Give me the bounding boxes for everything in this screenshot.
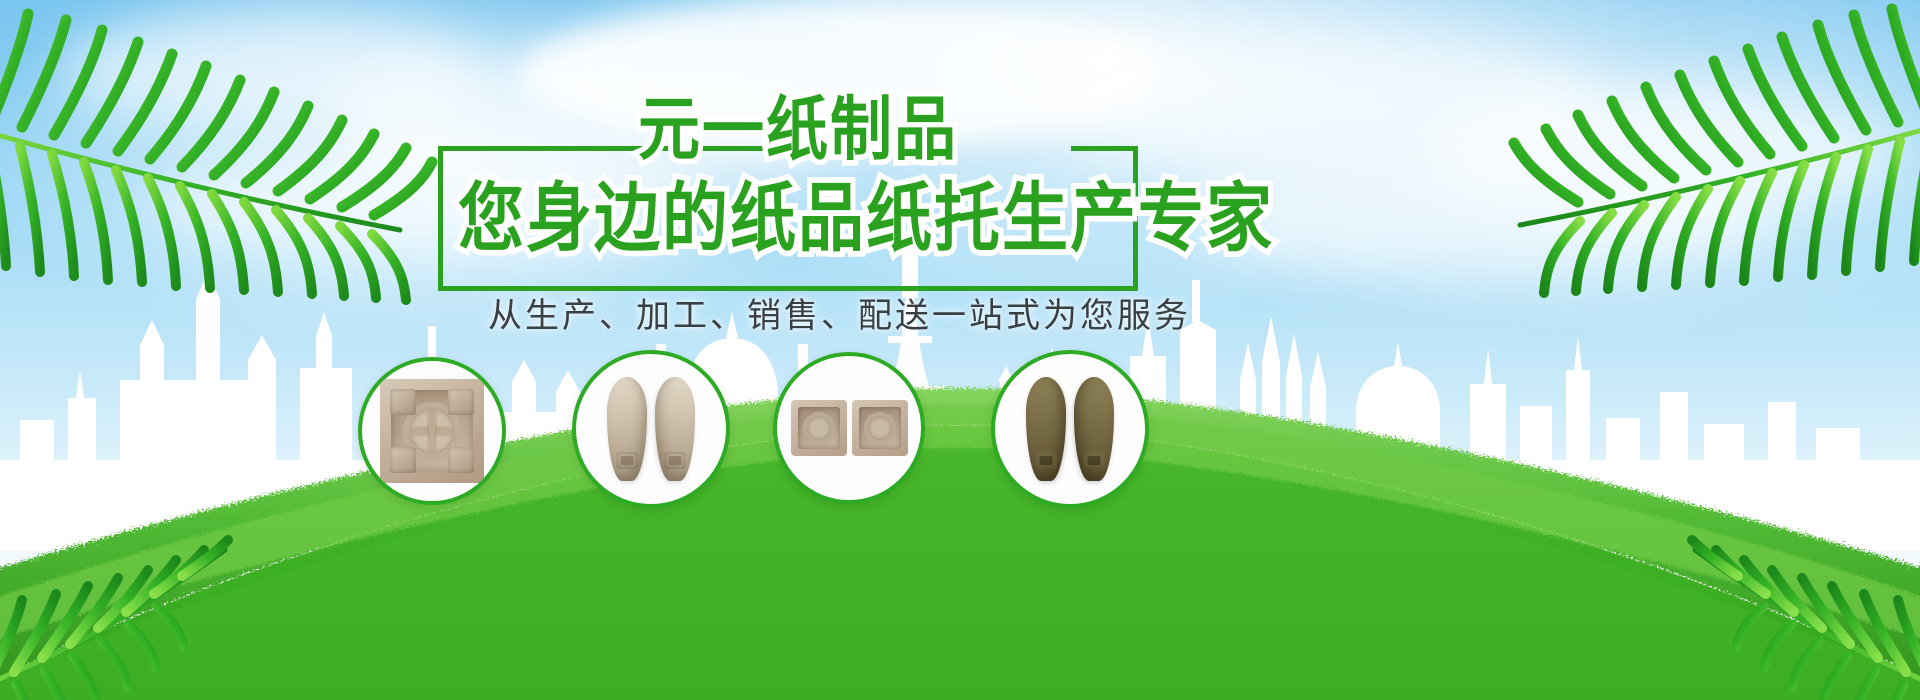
headline-rule-right xyxy=(1071,146,1138,151)
product-paper-shoe-trees-dark xyxy=(991,350,1149,508)
product-image-1 xyxy=(362,361,502,501)
headline-line-1: 元一纸制品 xyxy=(638,96,958,165)
tray-corner-bl xyxy=(390,447,416,473)
pulp-tray-pair-shape xyxy=(791,400,908,456)
palm-frond-bottom-left xyxy=(0,470,240,700)
product-image-2 xyxy=(576,354,726,504)
shoe-tree-left xyxy=(1026,377,1066,481)
tray-corner-br xyxy=(448,447,474,473)
headline-block: 元一纸制品 您身边的纸品纸托生产专家 xyxy=(438,88,1138,233)
shoe-tree-right xyxy=(655,377,695,481)
cloud-1 xyxy=(60,10,480,130)
pulp-tray-small-left xyxy=(791,400,847,456)
shoe-heel-block xyxy=(617,452,638,469)
tray-corner-tr xyxy=(448,389,474,415)
shoe-tree-pair-dark xyxy=(1026,377,1114,481)
pulp-tray-square-shape xyxy=(380,379,484,483)
palm-frond-top-right xyxy=(1480,0,1920,305)
product-molded-pulp-tray-pair xyxy=(773,352,925,504)
banner-subtitle: 从生产、加工、销售、配送一站式为您服务 xyxy=(488,288,1108,337)
product-image-3 xyxy=(777,356,921,500)
headline-frame-left xyxy=(438,146,443,291)
shoe-heel-block xyxy=(1084,452,1105,469)
product-molded-pulp-tray xyxy=(358,357,506,505)
tray-corner-tl xyxy=(390,389,416,415)
shoe-tree-right xyxy=(1074,377,1114,481)
shoe-tree-left xyxy=(607,377,647,481)
shoe-tree-pair-light xyxy=(607,377,695,481)
palm-frond-top-left xyxy=(0,0,440,310)
product-image-4 xyxy=(995,354,1145,504)
pulp-tray-small-right xyxy=(852,400,908,456)
shoe-heel-block xyxy=(1036,452,1057,469)
product-paper-shoe-trees-light xyxy=(572,350,730,508)
headline-line-2: 您身边的纸品纸托生产专家 xyxy=(458,180,1274,255)
green-grass-hill xyxy=(0,280,1920,700)
cloud-5 xyxy=(1420,90,1900,220)
palm-frond-bottom-right xyxy=(1680,470,1920,700)
promo-banner: 元一纸制品 您身边的纸品纸托生产专家 从生产、加工、销售、配送一站式为您服务 xyxy=(0,0,1920,700)
shoe-heel-block xyxy=(665,452,686,469)
